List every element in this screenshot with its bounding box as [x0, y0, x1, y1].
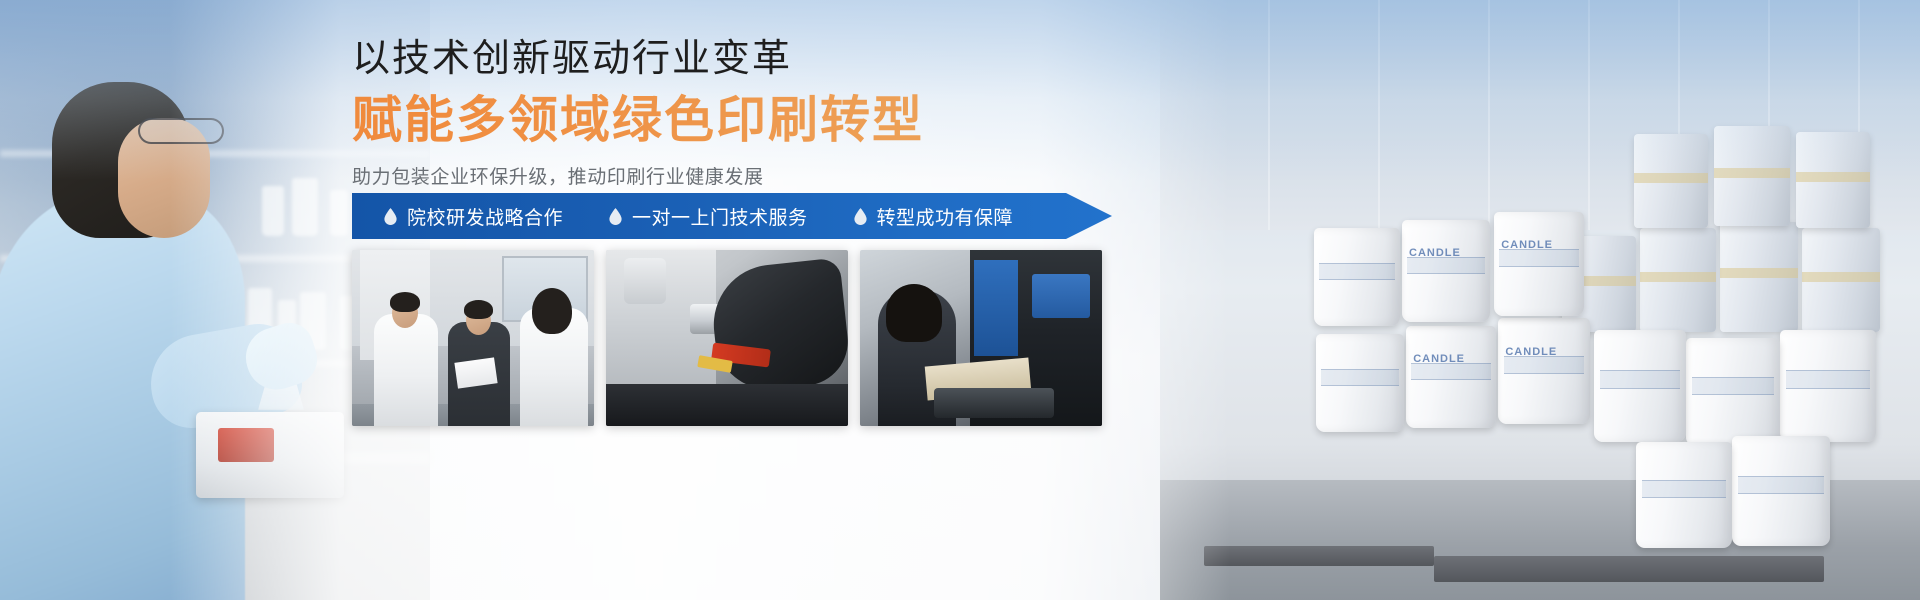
paint-pail [1316, 334, 1404, 432]
drum [1802, 228, 1880, 332]
paint-pail: CANDLE [1406, 326, 1496, 428]
pail-label: CANDLE [1505, 346, 1557, 358]
pail-label: CANDLE [1501, 239, 1553, 251]
feature-label: 一对一上门技术服务 [632, 203, 808, 230]
pail-label: CANDLE [1413, 353, 1465, 365]
paint-pail [1594, 330, 1686, 442]
paint-pail [1686, 338, 1780, 446]
banner-subtitle: 助力包装企业环保升级，推动印刷行业健康发展 [352, 162, 1512, 189]
paint-pail: CANDLE [1498, 318, 1590, 424]
water-drop-icon [854, 208, 867, 225]
headline-accent: 赋能多领域绿色印刷转型 [352, 90, 1512, 150]
paint-pail: CANDLE [1402, 220, 1490, 322]
photo-research-team[interactable] [352, 250, 594, 426]
pallet [1204, 546, 1434, 566]
water-drop-icon [609, 208, 622, 225]
feature-item-1[interactable]: 一对一上门技术服务 [609, 203, 808, 230]
drum [1640, 228, 1716, 332]
pail-label: CANDLE [1409, 247, 1461, 259]
photo-production-line[interactable] [606, 250, 848, 426]
headline-primary: 以技术创新驱动行业变革 [352, 34, 1512, 84]
feature-item-0[interactable]: 院校研发战略合作 [384, 203, 563, 230]
pallet [1434, 556, 1824, 582]
feature-bar: 院校研发战略合作 一对一上门技术服务 转型成功有保障 [352, 193, 1112, 239]
feature-label: 转型成功有保障 [877, 203, 1014, 230]
paint-pail [1780, 330, 1876, 442]
paint-pail [1314, 228, 1400, 326]
feature-label: 院校研发战略合作 [407, 203, 563, 230]
feature-item-2[interactable]: 转型成功有保障 [854, 203, 1014, 230]
photo-printing-press[interactable] [860, 250, 1102, 426]
paint-pail [1732, 436, 1830, 546]
drum [1796, 132, 1870, 228]
drum [1634, 134, 1708, 228]
paint-pail [1636, 442, 1732, 548]
paint-pail: CANDLE [1494, 212, 1584, 316]
water-drop-icon [384, 208, 397, 225]
hero-banner: CANDLE CANDLE CANDLE CANDLE [0, 0, 1920, 600]
drum [1720, 222, 1798, 332]
drum [1714, 126, 1790, 226]
banner-copy: 以技术创新驱动行业变革 赋能多领域绿色印刷转型 助力包装企业环保升级，推动印刷行… [352, 34, 1512, 189]
photo-row [352, 250, 1102, 426]
